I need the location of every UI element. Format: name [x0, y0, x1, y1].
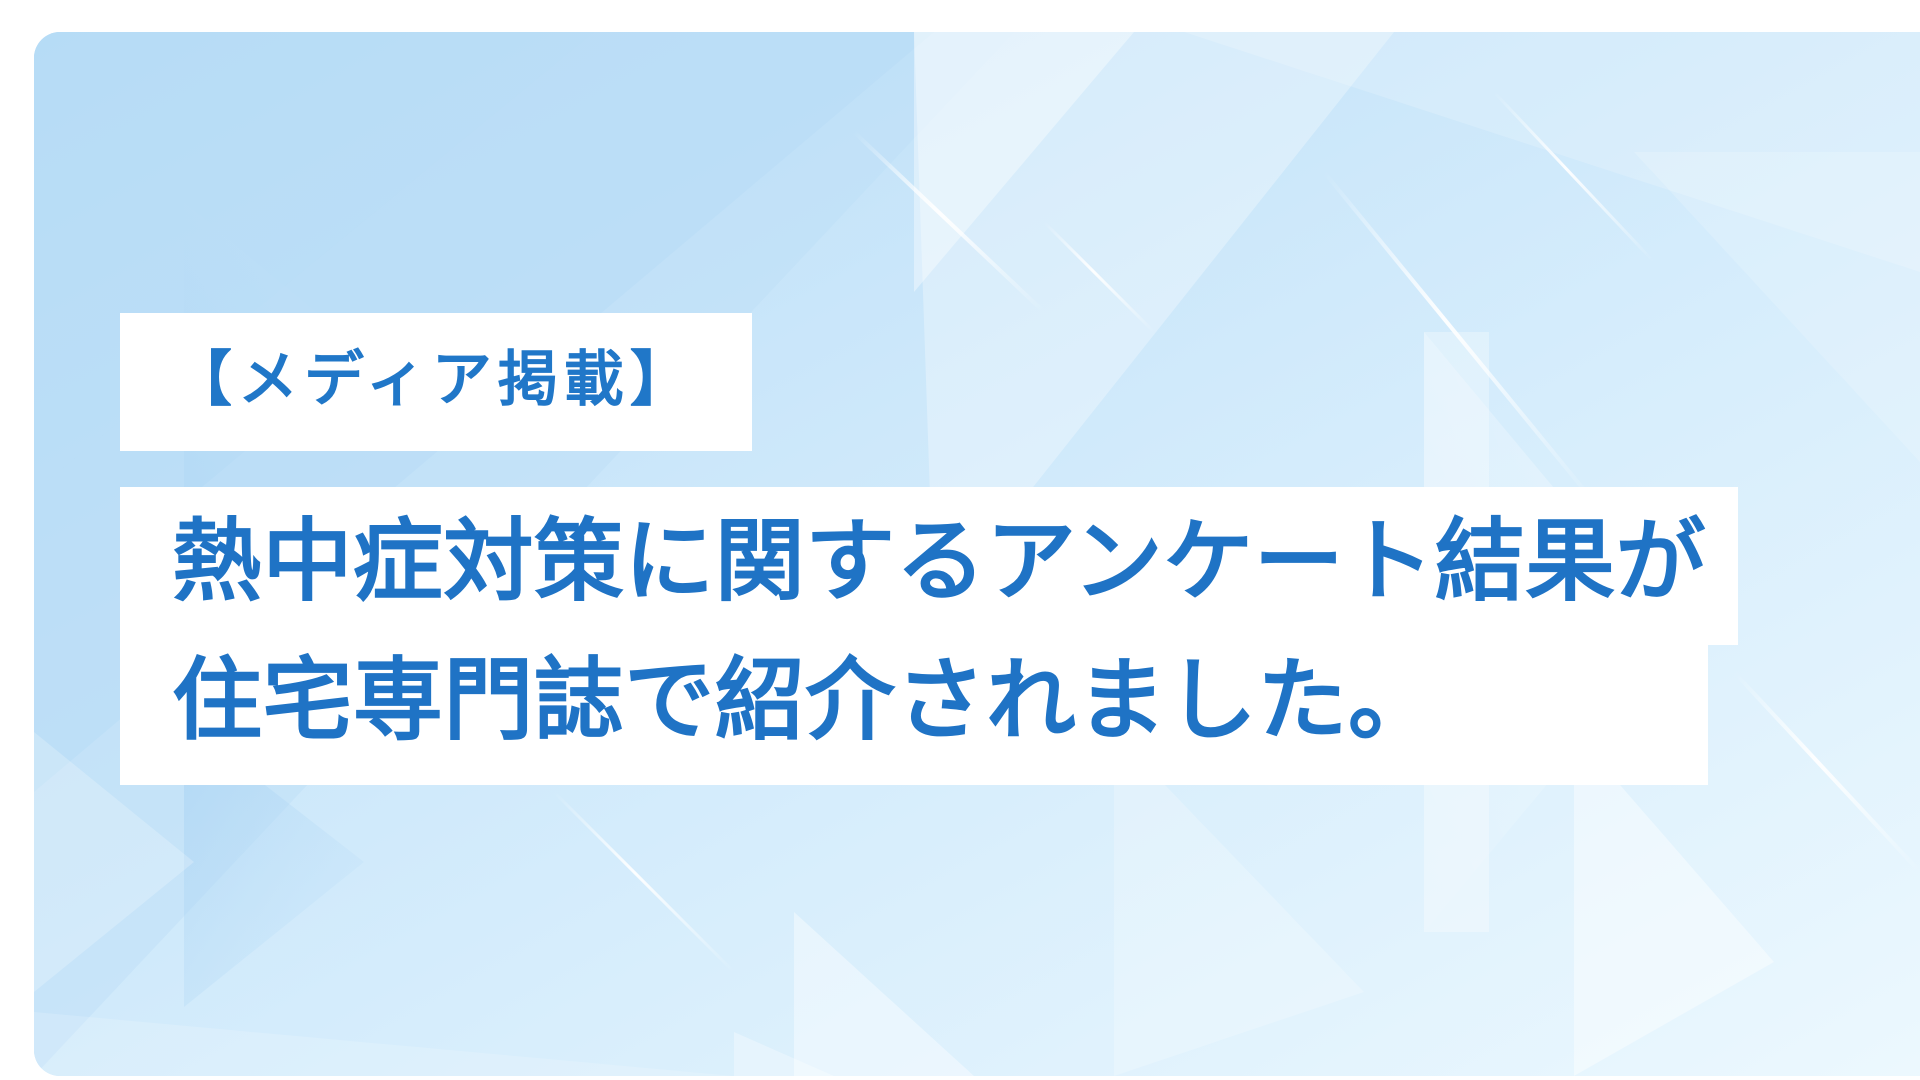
announcement-banner-card: 【メディア掲載】 熱中症対策に関するアンケート結果が 住宅専門誌で紹介されました…: [34, 32, 1920, 1076]
kicker-panel: 【メディア掲載】: [120, 313, 752, 451]
headline-line-1: 熱中症対策に関するアンケート結果が: [172, 517, 1706, 607]
headline-panel-line-1: 熱中症対策に関するアンケート結果が: [120, 487, 1738, 645]
headline-line-2: 住宅専門誌で紹介されました。: [172, 656, 1438, 746]
page-root: 【メディア掲載】 熱中症対策に関するアンケート結果が 住宅専門誌で紹介されました…: [0, 0, 1920, 1080]
banner-text-layer: 【メディア掲載】 熱中症対策に関するアンケート結果が 住宅専門誌で紹介されました…: [34, 32, 1920, 1076]
kicker-label: 【メディア掲載】: [172, 350, 696, 410]
headline-panel-line-2: 住宅専門誌で紹介されました。: [120, 645, 1708, 785]
